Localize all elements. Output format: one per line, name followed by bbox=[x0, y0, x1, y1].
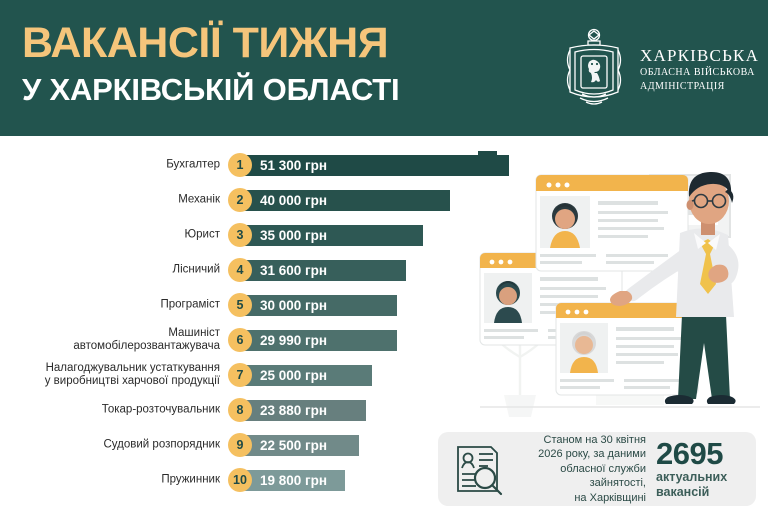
stats-text-line-3: обласної служби зайнятості, bbox=[516, 462, 646, 491]
chart-bar-row: Бухгалтер151 300 грн bbox=[0, 152, 520, 178]
bar-label: Лісничий bbox=[4, 264, 224, 277]
bar-label-line: Лісничий bbox=[4, 264, 220, 277]
chart-bar-row: Механік240 000 грн bbox=[0, 187, 520, 213]
vacancies-caption-line-2: вакансій bbox=[656, 485, 742, 500]
chart-bar-row: Машиніставтомобілерозвантажувача629 990 … bbox=[0, 327, 520, 353]
bar-label-line: Пружинник bbox=[4, 474, 220, 487]
page-subtitle: У ХАРКІВСЬКІЙ ОБЛАСТІ bbox=[22, 70, 522, 110]
bar-rank-badge: 2 bbox=[228, 188, 252, 212]
bar-label: Налагоджувальник устаткуванняу виробницт… bbox=[4, 362, 224, 388]
bar-rank-badge: 1 bbox=[228, 153, 252, 177]
bar-label-line: у виробництві харчової продукції bbox=[4, 375, 220, 388]
bar-label: Токар-розточувальник bbox=[4, 404, 224, 417]
bar-rank-badge: 10 bbox=[228, 468, 252, 492]
bar-container: 725 000 грн bbox=[228, 362, 327, 388]
bar-value-label: 25 000 грн bbox=[260, 368, 327, 383]
chart-bar-row: Лісничий431 600 грн bbox=[0, 257, 520, 283]
chart-bar-row: Програміст530 000 грн bbox=[0, 292, 520, 318]
bar-value-label: 19 800 грн bbox=[260, 473, 327, 488]
bar-label: Механік bbox=[4, 194, 224, 207]
decorative-square bbox=[478, 151, 497, 170]
bar-container: 530 000 грн bbox=[228, 292, 327, 318]
bar-label-line: Машиніст bbox=[4, 327, 220, 340]
logo-line-1: ХАРКІВСЬКА bbox=[640, 46, 759, 66]
bar-container: 629 990 грн bbox=[228, 327, 327, 353]
stats-number-block: 2695 актуальних вакансій bbox=[656, 438, 742, 500]
logo-line-2: ОБЛАСНА ВІЙСЬКОВА bbox=[640, 66, 759, 80]
document-search-icon bbox=[452, 442, 506, 496]
bar-label-line: Юрист bbox=[4, 229, 220, 242]
bar-container: 151 300 грн bbox=[228, 152, 327, 178]
bar-value-label: 22 500 грн bbox=[260, 438, 327, 453]
stats-text-line-4: на Харківщині bbox=[516, 491, 646, 506]
bar-value-label: 29 990 грн bbox=[260, 333, 327, 348]
bar-label-line: Токар-розточувальник bbox=[4, 404, 220, 417]
bar-value-label: 31 600 грн bbox=[260, 263, 327, 278]
stats-text-line-2: 2026 року, за даними bbox=[516, 447, 646, 462]
bar-container: 431 600 грн bbox=[228, 257, 327, 283]
stats-text-line-1: Станом на 30 квітня bbox=[516, 433, 646, 448]
bar-label: Пружинник bbox=[4, 474, 224, 487]
bar-label-line: Програміст bbox=[4, 299, 220, 312]
bar-rank-badge: 9 bbox=[228, 433, 252, 457]
bar-label: Програміст bbox=[4, 299, 224, 312]
bar-container: 922 500 грн bbox=[228, 432, 327, 458]
bar-label: Судовий розпорядник bbox=[4, 439, 224, 452]
logo-text-block: ХАРКІВСЬКА ОБЛАСНА ВІЙСЬКОВА АДМІНІСТРАЦ… bbox=[640, 46, 759, 94]
bar-label-line: Судовий розпорядник bbox=[4, 439, 220, 452]
chart-bar-row: Налагоджувальник устаткуванняу виробницт… bbox=[0, 362, 520, 388]
bar-label: Юрист bbox=[4, 229, 224, 242]
infographic-page: ВАКАНСІЇ ТИЖНЯ У ХАРКІВСЬКІЙ ОБЛАСТІ bbox=[0, 0, 768, 523]
bar-rank-badge: 7 bbox=[228, 363, 252, 387]
stats-description: Станом на 30 квітня 2026 року, за даними… bbox=[516, 433, 646, 506]
title-block: ВАКАНСІЇ ТИЖНЯ У ХАРКІВСЬКІЙ ОБЛАСТІ bbox=[22, 18, 522, 110]
bar-value-label: 51 300 грн bbox=[260, 158, 327, 173]
recruiter-scene-svg bbox=[470, 145, 768, 430]
bar-label-line: Механік bbox=[4, 194, 220, 207]
page-title: ВАКАНСІЇ ТИЖНЯ bbox=[22, 18, 522, 68]
bar-container: 240 000 грн bbox=[228, 187, 327, 213]
bar-rank-badge: 6 bbox=[228, 328, 252, 352]
header-banner: ВАКАНСІЇ ТИЖНЯ У ХАРКІВСЬКІЙ ОБЛАСТІ bbox=[0, 0, 768, 136]
bar-rank-badge: 5 bbox=[228, 293, 252, 317]
chart-bar-row: Токар-розточувальник823 880 грн bbox=[0, 397, 520, 423]
vacancies-count: 2695 bbox=[656, 438, 742, 470]
cv-card-top bbox=[536, 175, 688, 271]
bar-label: Машиніставтомобілерозвантажувача bbox=[4, 327, 224, 353]
bar-value-label: 23 880 грн bbox=[260, 403, 327, 418]
chart-bar-row: Юрист335 000 грн bbox=[0, 222, 520, 248]
oblast-administration-logo: ХАРКІВСЬКА ОБЛАСНА ВІЙСЬКОВА АДМІНІСТРАЦ… bbox=[558, 28, 759, 112]
bar-label: Бухгалтер bbox=[4, 159, 224, 172]
bar-value-label: 30 000 грн bbox=[260, 298, 327, 313]
bar-rank-badge: 3 bbox=[228, 223, 252, 247]
vacancies-caption-line-1: актуальних bbox=[656, 470, 742, 485]
kharkiv-coat-of-arms-icon bbox=[558, 28, 630, 112]
bar-label-line: Бухгалтер bbox=[4, 159, 220, 172]
bar-value-label: 35 000 грн bbox=[260, 228, 327, 243]
bar-rank-badge: 4 bbox=[228, 258, 252, 282]
bar-rank-badge: 8 bbox=[228, 398, 252, 422]
bar-value-label: 40 000 грн bbox=[260, 193, 327, 208]
recruiter-illustration bbox=[470, 145, 768, 430]
bar-label-line: Налагоджувальник устаткування bbox=[4, 362, 220, 375]
logo-line-3: АДМІНІСТРАЦІЯ bbox=[640, 80, 759, 94]
actual-vacancies-stats-box: Станом на 30 квітня 2026 року, за даними… bbox=[438, 432, 756, 506]
bar-container: 335 000 грн bbox=[228, 222, 327, 248]
bar-container: 823 880 грн bbox=[228, 397, 327, 423]
bar-label-line: автомобілерозвантажувача bbox=[4, 340, 220, 353]
bar-container: 1019 800 грн bbox=[228, 467, 327, 493]
